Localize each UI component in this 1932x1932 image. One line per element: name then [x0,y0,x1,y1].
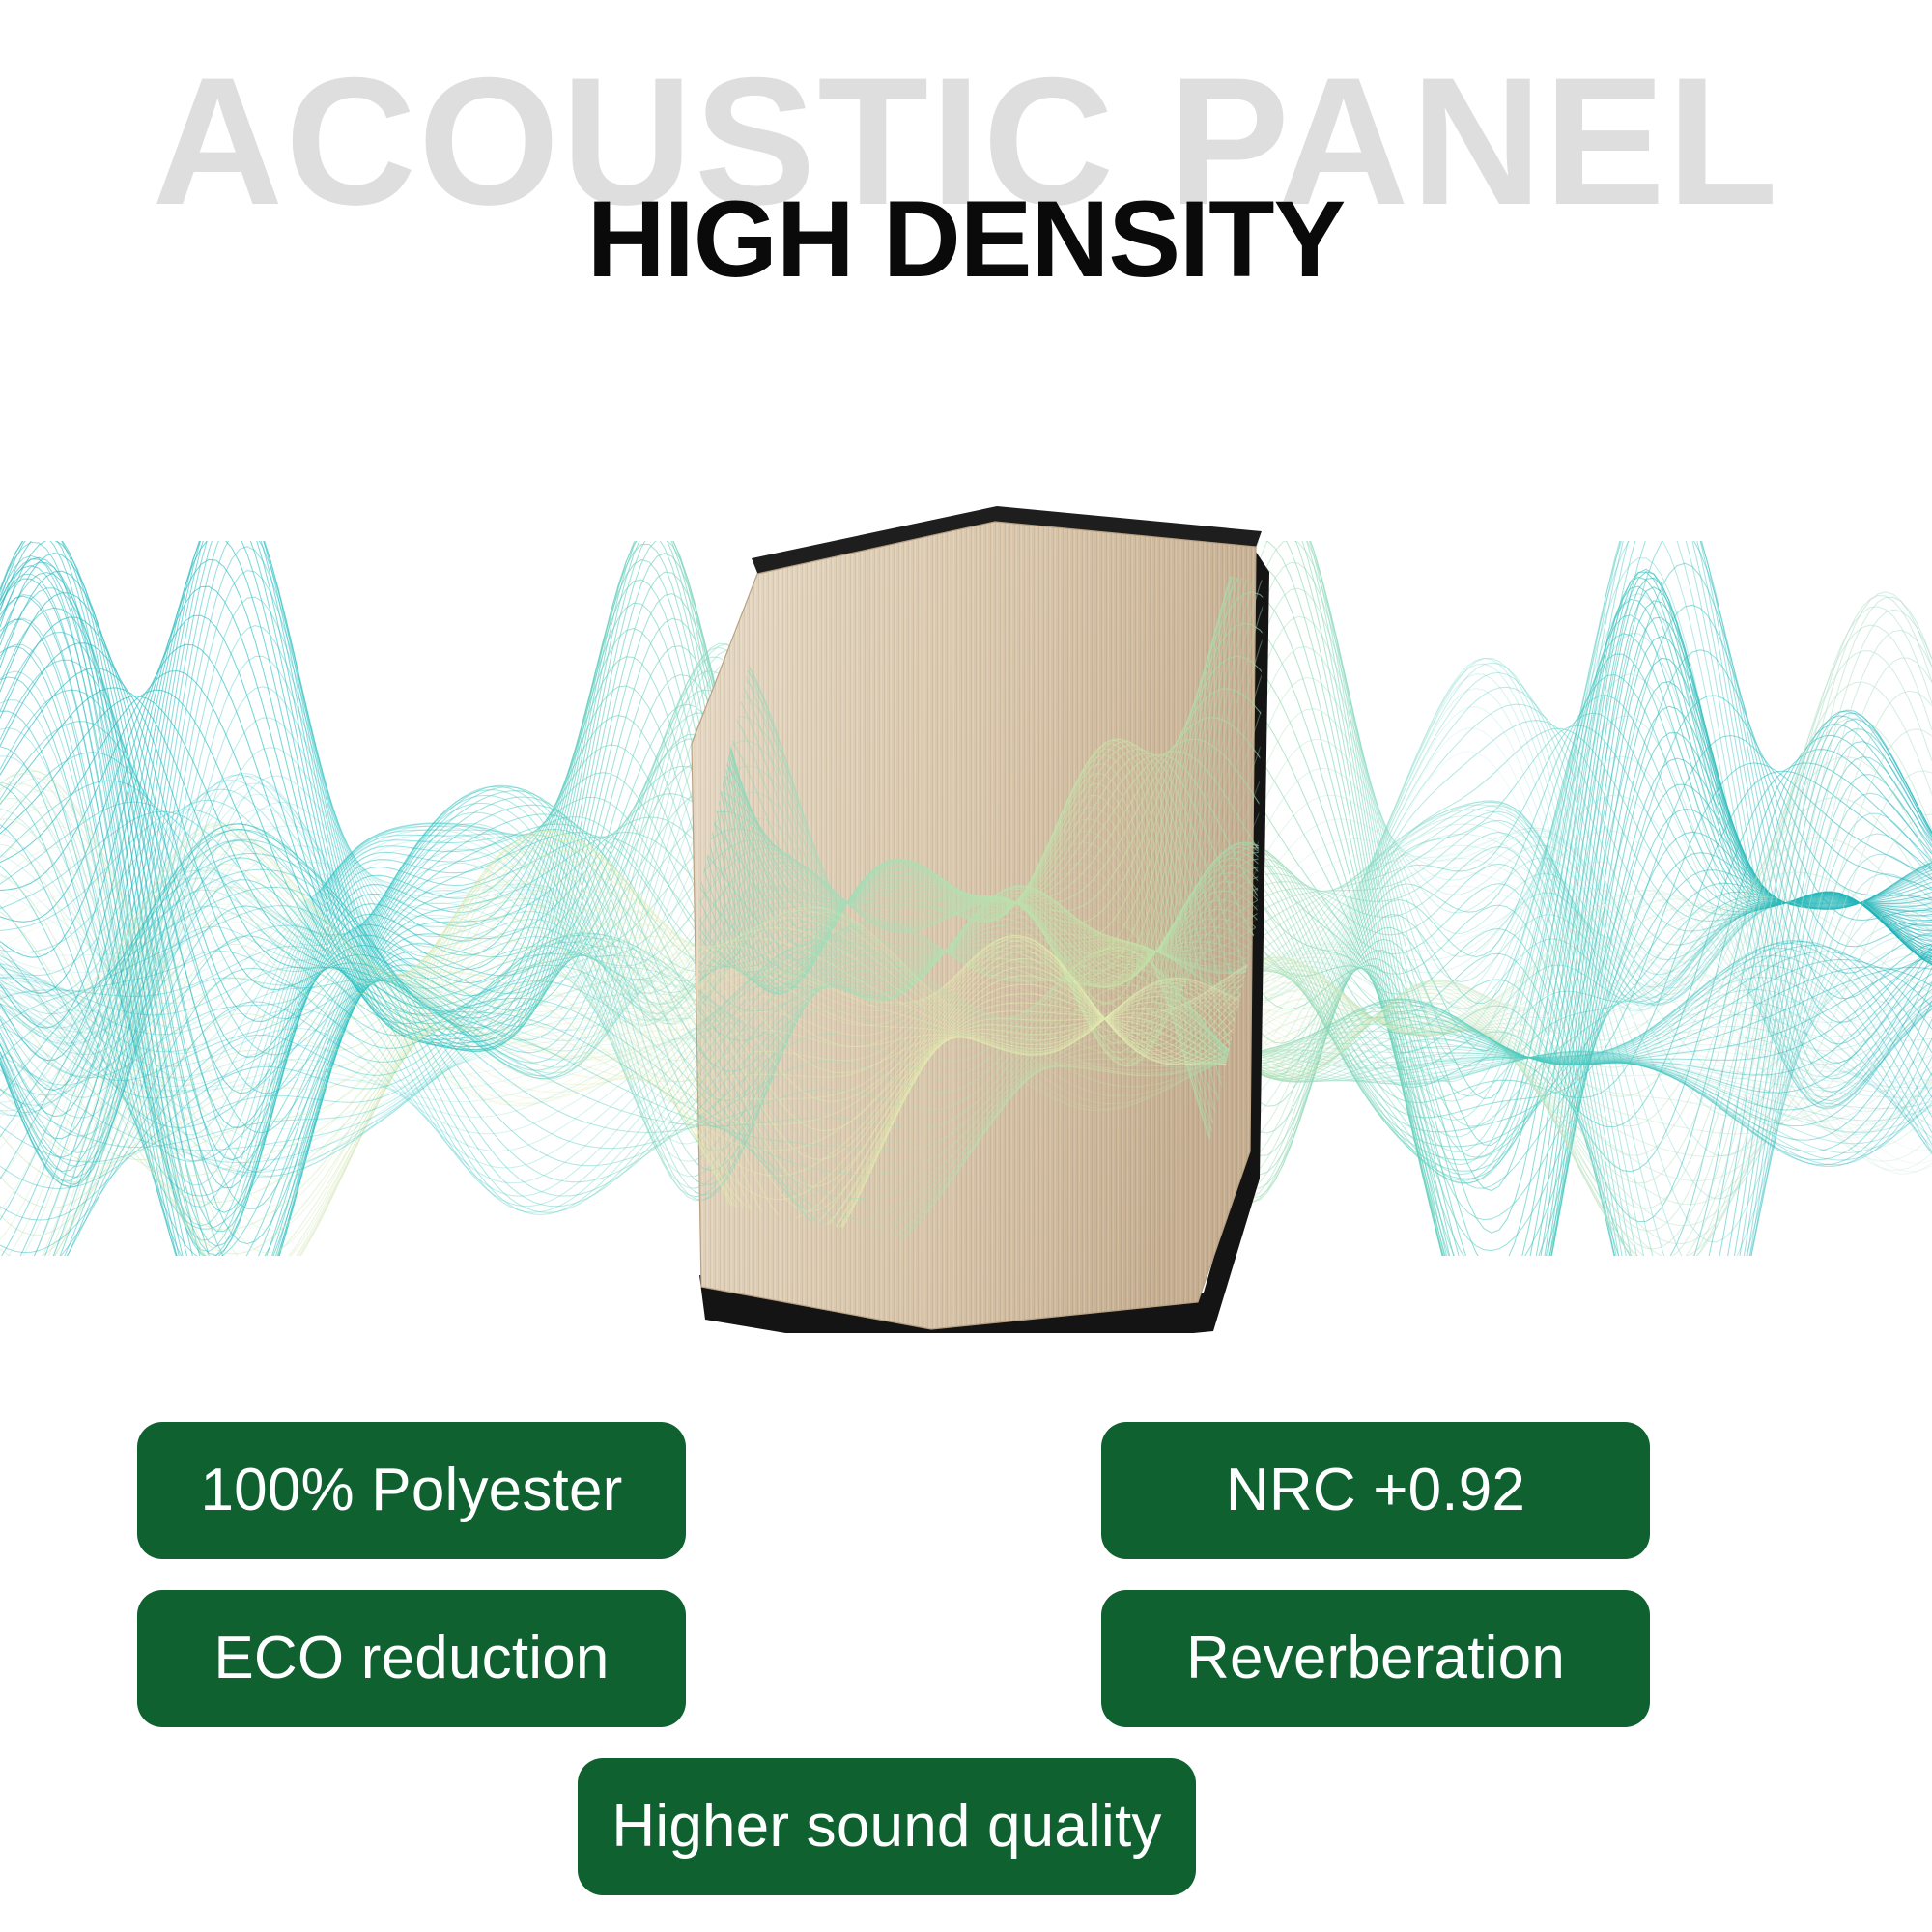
wood-veneer-panel-face [692,522,1256,1329]
page-title: HIGH DENSITY [0,185,1932,294]
feature-pill-label: 100% Polyester [200,1461,622,1520]
feature-pill-eco-reduction[interactable]: ECO reduction [137,1590,686,1727]
feature-pill-polyester[interactable]: 100% Polyester [137,1422,686,1559]
feature-pill-label: NRC +0.92 [1226,1461,1525,1520]
feature-pill-label: Higher sound quality [611,1797,1161,1857]
acoustic-panel-product [676,502,1275,1333]
feature-pill-sound-quality[interactable]: Higher sound quality [578,1758,1196,1895]
feature-pill-label: ECO reduction [213,1629,609,1689]
feature-pill-nrc[interactable]: NRC +0.92 [1101,1422,1650,1559]
product-graphic-canvas: ACOUSTIC PANEL [0,0,1932,1932]
feature-pill-reverberation[interactable]: Reverberation [1101,1590,1650,1727]
feature-pill-label: Reverberation [1186,1629,1565,1689]
